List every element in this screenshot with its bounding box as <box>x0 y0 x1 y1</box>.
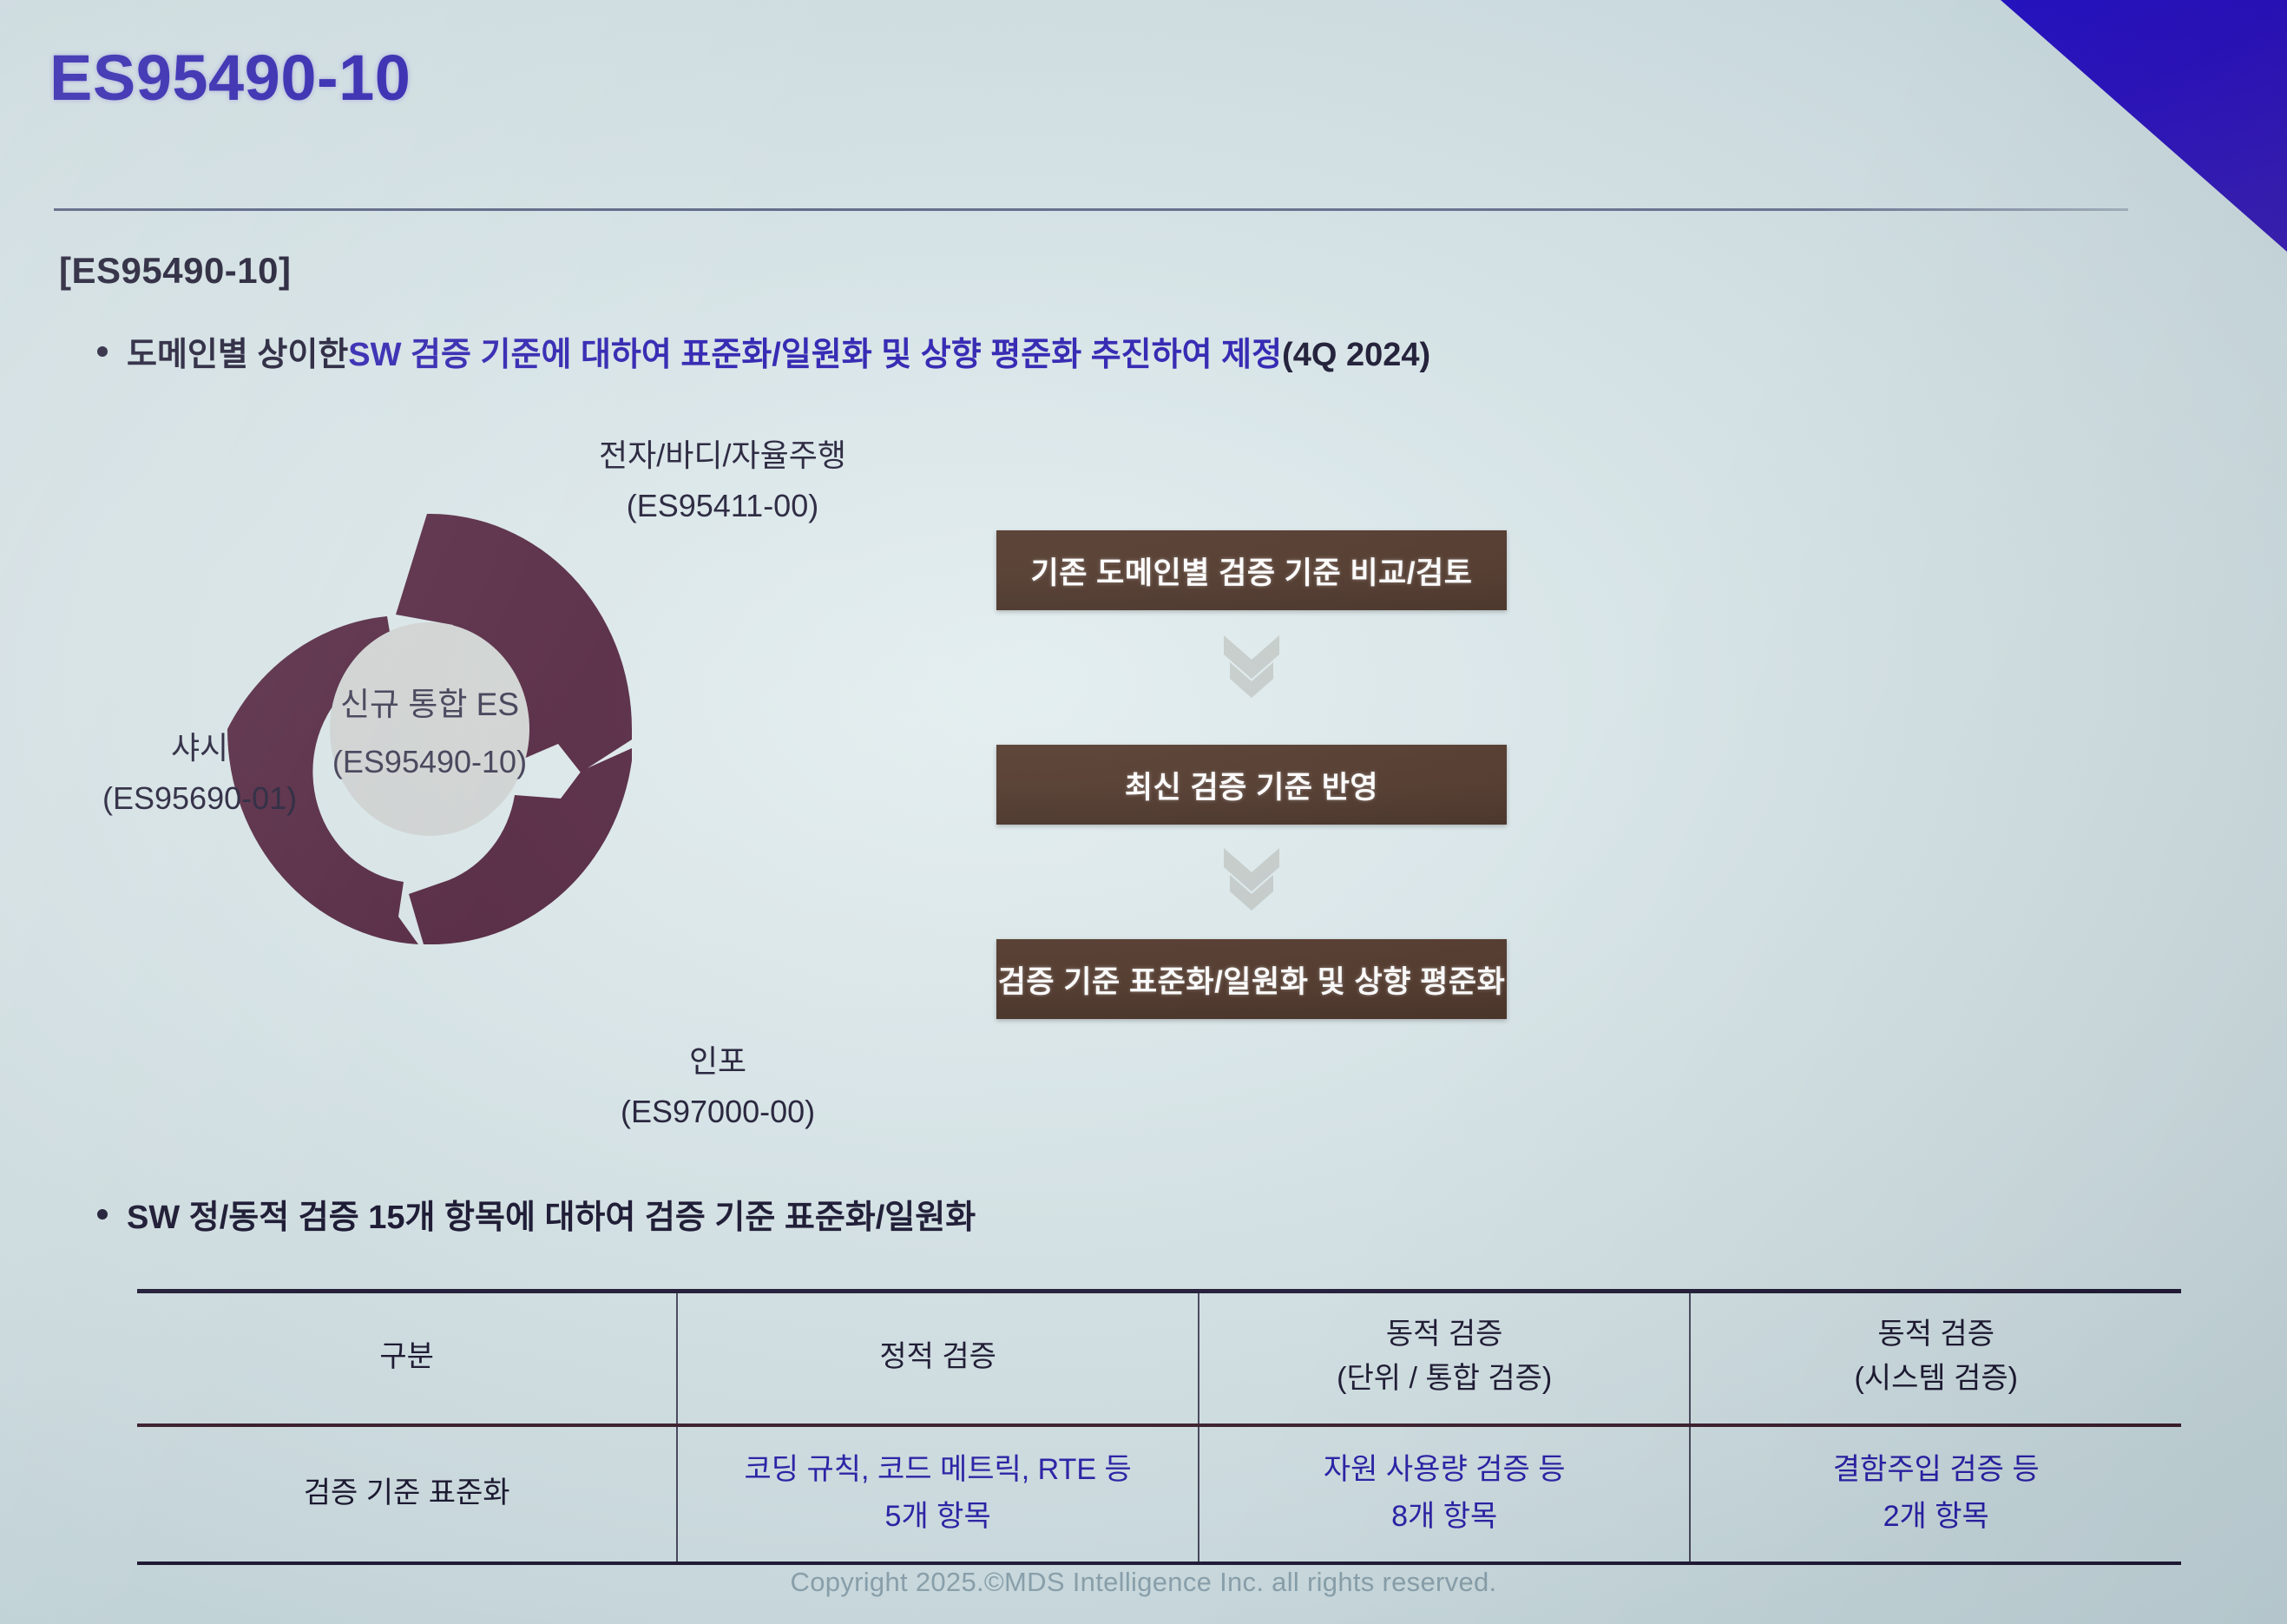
bullet-2-segment-1: SW 정/동적 검증 15개 항목에 대하여 검증 기준 표준화/일원화 <box>127 1190 976 1238</box>
table-row-0-cell-0: 코딩 규칙, 코드 메트릭, RTE 등 5개 항목 <box>677 1425 1199 1563</box>
table-row-0-label-text: 검증 기준 표준화 <box>146 1469 667 1516</box>
donut-label-bottom-code: (ES97000-00) <box>621 1087 815 1137</box>
table-row-0-cell-2-line2: 2개 항목 <box>1699 1493 2172 1540</box>
verification-criteria-table: 구분 정적 검증 동적 검증 (단위 / 통합 검증) 동적 검증 (시스템 검… <box>137 1289 2181 1565</box>
table-header: 구분 정적 검증 동적 검증 (단위 / 통합 검증) 동적 검증 (시스템 검… <box>137 1292 2181 1426</box>
double-chevron-down-icon <box>1221 846 1282 914</box>
table-header-cell-2-line2: (단위 / 통합 검증) <box>1208 1357 1681 1401</box>
flow-step-1-label: 기존 도메인별 검증 기준 비교/검토 <box>1031 549 1473 593</box>
page-title: ES95490-10 <box>49 41 411 115</box>
table-row-0-cell-1-line1: 자원 사용량 검증 등 <box>1208 1446 1681 1493</box>
table-header-cell-0: 구분 <box>137 1292 677 1426</box>
bullet-dot-icon <box>97 346 108 357</box>
table-row-0-cell-0-line1: 코딩 규칙, 코드 메트릭, RTE 등 <box>687 1446 1189 1493</box>
footer-copyright: Copyright 2025.©MDS Intelligence Inc. al… <box>0 1567 2287 1598</box>
flow-step-2-label: 최신 검증 기준 반영 <box>1125 763 1378 807</box>
table-header-cell-0-line1: 구분 <box>146 1335 667 1379</box>
corner-decoration-triangle <box>2001 0 2287 252</box>
donut-label-bottom: 인포 (ES97000-00) <box>621 1036 815 1138</box>
table-row-0-cell-2-line1: 결함주입 검증 등 <box>1699 1446 2172 1493</box>
bullet-1-segment-3: (4Q 2024) <box>1282 337 1430 374</box>
double-chevron-down-icon <box>1221 634 1282 701</box>
table-row-0-label: 검증 기준 표준화 <box>137 1425 677 1563</box>
table-body: 검증 기준 표준화 코딩 규칙, 코드 메트릭, RTE 등 5개 항목 자원 … <box>137 1425 2181 1563</box>
donut-label-left: 샤시 (ES95690-01) <box>102 723 297 825</box>
table-row-0-cell-0-line2: 5개 항목 <box>687 1493 1189 1540</box>
table-header-cell-2: 동적 검증 (단위 / 통합 검증) <box>1199 1292 1691 1426</box>
table-row-0-cell-2: 결함주입 검증 등 2개 항목 <box>1690 1425 2181 1563</box>
flow-step-1: 기존 도메인별 검증 기준 비교/검토 <box>996 530 1507 610</box>
donut-label-left-code: (ES95690-01) <box>102 773 297 824</box>
bullet-item-1: 도메인별 상이한 SW 검증 기준에 대하여 표준화/일원화 및 상향 평준화 … <box>97 327 1430 375</box>
section-label: [ES95490-10] <box>59 250 292 292</box>
flow-step-2: 최신 검증 기준 반영 <box>996 745 1507 825</box>
table-header-cell-3: 동적 검증 (시스템 검증) <box>1690 1292 2181 1426</box>
donut-label-top-code: (ES95411-00) <box>599 481 846 531</box>
flow-step-3: 검증 기준 표준화/일원화 및 상향 평준화 <box>996 939 1507 1019</box>
donut-label-left-name: 샤시 <box>102 723 297 773</box>
table-row: 검증 기준 표준화 코딩 규칙, 코드 메트릭, RTE 등 5개 항목 자원 … <box>137 1425 2181 1563</box>
table-header-row: 구분 정적 검증 동적 검증 (단위 / 통합 검증) 동적 검증 (시스템 검… <box>137 1292 2181 1426</box>
table-header-cell-1-line1: 정적 검증 <box>687 1335 1189 1379</box>
table-row-0-cell-1-line2: 8개 항목 <box>1208 1493 1681 1540</box>
slide-canvas: ES95490-10 [ES95490-10] 도메인별 상이한 SW 검증 기… <box>0 0 2287 1624</box>
bullet-1-segment-1: 도메인별 상이한 <box>127 327 348 375</box>
table-header-cell-2-line1: 동적 검증 <box>1208 1312 1681 1357</box>
bullet-1-segment-2: SW 검증 기준에 대하여 표준화/일원화 및 상향 평준화 추진하여 제정 <box>348 327 1282 375</box>
table-row-0-cell-1: 자원 사용량 검증 등 8개 항목 <box>1199 1425 1691 1563</box>
flow-step-3-label: 검증 기준 표준화/일원화 및 상향 평준화 <box>998 957 1506 1002</box>
table-header-cell-3-line2: (시스템 검증) <box>1699 1357 2172 1401</box>
donut-center-circle <box>330 622 529 836</box>
bullet-dot-icon <box>97 1209 108 1220</box>
table-header-cell-3-line1: 동적 검증 <box>1699 1312 2172 1357</box>
table-header-cell-1: 정적 검증 <box>677 1292 1199 1426</box>
title-divider-rule <box>54 208 2128 211</box>
donut-label-top-name: 전자/바디/자율주행 <box>599 431 846 481</box>
donut-label-top: 전자/바디/자율주행 (ES95411-00) <box>599 431 846 532</box>
bullet-item-2: SW 정/동적 검증 15개 항목에 대하여 검증 기준 표준화/일원화 <box>97 1190 976 1238</box>
verification-criteria-table-wrapper: 구분 정적 검증 동적 검증 (단위 / 통합 검증) 동적 검증 (시스템 검… <box>137 1289 2181 1565</box>
donut-label-bottom-name: 인포 <box>621 1036 815 1087</box>
